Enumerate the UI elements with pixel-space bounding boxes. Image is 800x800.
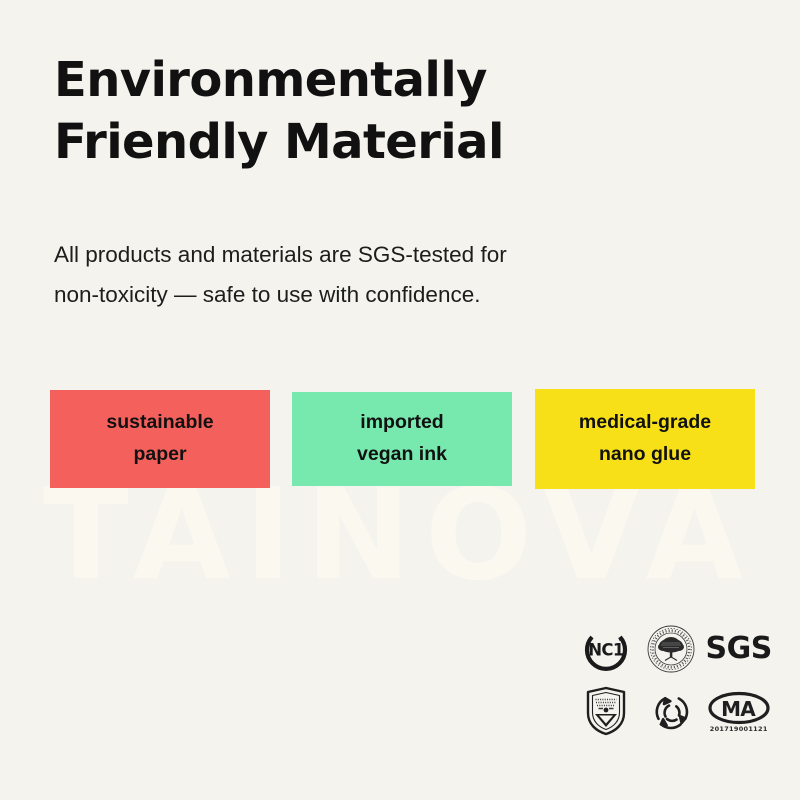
- material-badge-label-line-2: nano glue: [599, 439, 691, 471]
- svg-text:NC1: NC1: [589, 641, 625, 660]
- certification-mark-row-top: NC1: [574, 618, 774, 680]
- shield-icon: [574, 686, 639, 736]
- material-badge-label-line-2: paper: [133, 439, 186, 471]
- page-title-line-2: Friendly Material: [54, 111, 714, 173]
- svg-text:MA: MA: [721, 697, 756, 721]
- material-badge-label-line-2: vegan ink: [357, 439, 447, 471]
- sgs-label: SGS: [706, 634, 772, 664]
- cma-icon: MA 201719001121: [703, 691, 774, 731]
- brand-watermark: TAINOVA: [0, 472, 800, 598]
- cma-certificate-number: 201719001121: [703, 725, 774, 733]
- poster-canvas: TAINOVA Environmentally Friendly Materia…: [0, 0, 800, 800]
- nc1-icon: NC1: [574, 625, 639, 673]
- recycling-icon: [639, 687, 704, 735]
- certification-mark-row-bottom: MA 201719001121: [574, 680, 774, 742]
- material-badge-label-line-1: sustainable: [106, 407, 213, 439]
- certification-mark-group: NC1: [574, 618, 774, 742]
- tree-seal-icon: [639, 624, 704, 674]
- page-subtitle: All products and materials are SGS-teste…: [54, 235, 654, 315]
- material-badge-imported-vegan-ink: imported vegan ink: [292, 392, 512, 486]
- page-subtitle-line-1: All products and materials are SGS-teste…: [54, 235, 654, 275]
- material-badge-sustainable-paper: sustainable paper: [50, 390, 270, 488]
- material-badge-label-line-1: imported: [360, 407, 443, 439]
- page-subtitle-line-2: non-toxicity — safe to use with confiden…: [54, 275, 654, 315]
- page-title: Environmentally Friendly Material: [54, 49, 714, 174]
- material-badge-medical-grade-nano-glue: medical-grade nano glue: [535, 389, 755, 489]
- material-badge-label-line-1: medical-grade: [579, 407, 711, 439]
- sgs-icon: SGS: [703, 634, 774, 664]
- page-title-line-1: Environmentally: [54, 49, 714, 111]
